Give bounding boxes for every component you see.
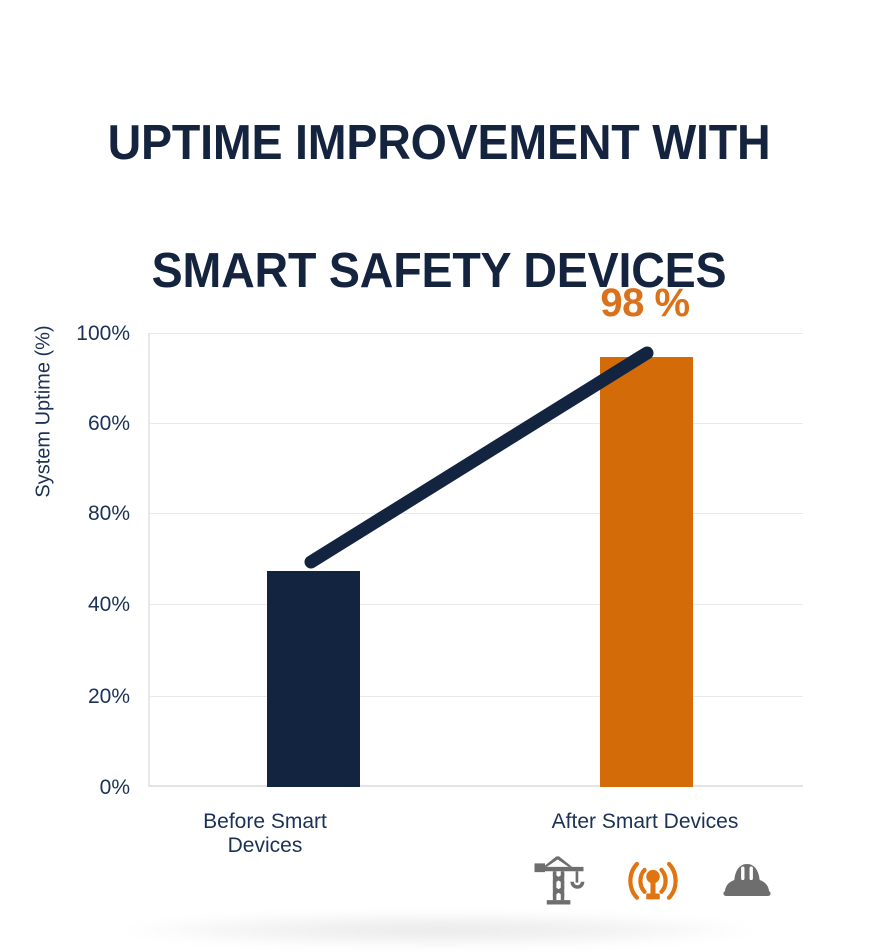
crane-icon xyxy=(531,852,587,908)
gridline-40 xyxy=(150,604,803,605)
gridline-20 xyxy=(150,696,803,697)
wireless-signal-icon-box xyxy=(622,849,684,911)
x-axis-line xyxy=(150,785,803,787)
bar-chart: System Uptime (%) 100% 60% 80% 40% 20% 0… xyxy=(0,0,878,951)
gridline-100 xyxy=(150,333,803,334)
hard-hat-icon-box xyxy=(716,849,778,911)
hard-hat-icon xyxy=(720,853,774,907)
y-tick-label-60: 60% xyxy=(20,413,130,434)
value-label-after: 98 % xyxy=(560,281,730,325)
y-axis-tick-labels: 100% 60% 80% 40% 20% 0% xyxy=(18,0,130,951)
gridline-60 xyxy=(150,423,803,424)
wireless-signal-icon xyxy=(626,853,680,907)
y-tick-label-100: 100% xyxy=(20,323,130,344)
y-tick-label-80: 80% xyxy=(20,503,130,524)
y-tick-label-20: 20% xyxy=(20,686,130,707)
y-tick-label-0: 0% xyxy=(20,777,130,798)
plot-area xyxy=(148,333,801,787)
icon-row xyxy=(528,849,778,911)
y-tick-label-40: 40% xyxy=(20,594,130,615)
x-tick-label-before: Before Smart Devices xyxy=(165,810,365,858)
x-tick-label-after: After Smart Devices xyxy=(545,810,745,834)
chart-card: UPTIME IMPROVEMENT WITH SMART SAFETY DEV… xyxy=(0,0,878,951)
bar-before-smart-devices[interactable] xyxy=(267,571,360,787)
gridline-80 xyxy=(150,513,803,514)
crane-icon-box xyxy=(528,849,590,911)
bar-after-smart-devices[interactable] xyxy=(600,357,693,787)
